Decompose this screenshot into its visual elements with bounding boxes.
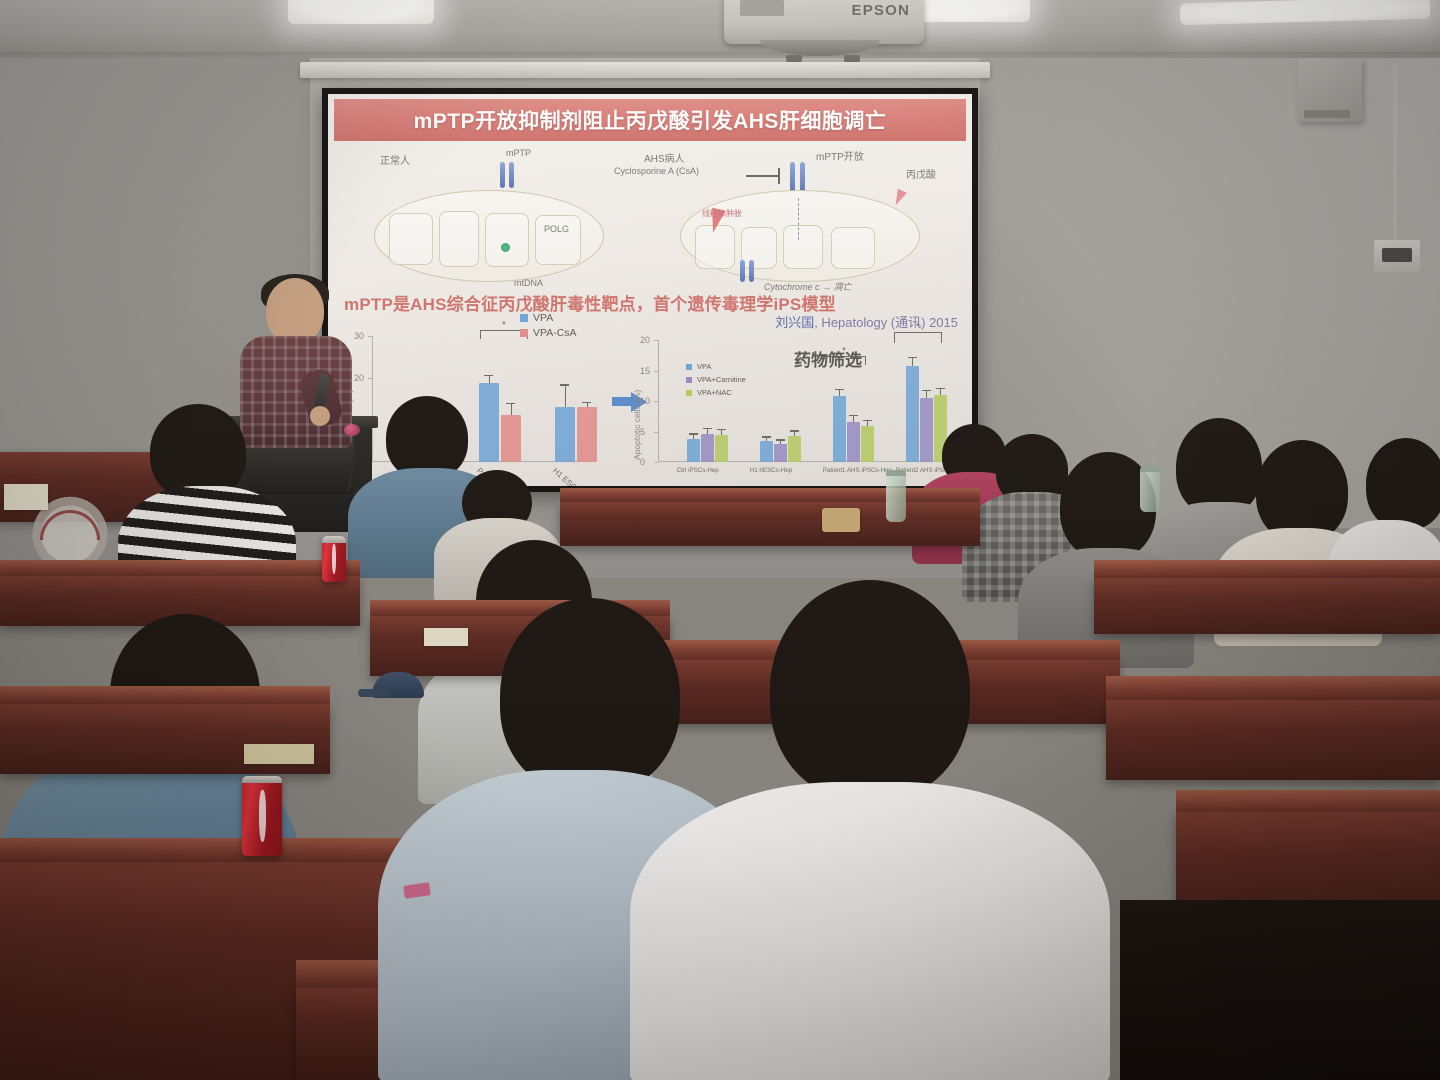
slide-title: mPTP开放抑制剂阻止丙戊酸引发AHS肝细胞调亡: [414, 105, 887, 135]
x-tick-label: H1 ESCs-Hep: [551, 466, 594, 486]
cytc-pore-icon: [740, 260, 745, 282]
presenter-hand: [310, 406, 330, 426]
error-bar: [693, 435, 694, 439]
error-cap: [717, 429, 726, 430]
error-bar: [587, 403, 588, 407]
bar: [920, 398, 933, 462]
error-cap: [835, 389, 844, 390]
error-cap: [936, 388, 945, 389]
lecture-hall-scene: EPSON mPTP开放抑制剂阻止丙戊酸引发AHS肝细胞调亡 正常人 mPTP: [0, 0, 1440, 1080]
crista: [741, 227, 777, 269]
y-tick-label: 15: [640, 366, 650, 376]
bar: [687, 439, 700, 462]
slide-title-bar: mPTP开放抑制剂阻止丙戊酸引发AHS肝细胞调亡: [334, 99, 966, 141]
slide-citation: 刘兴国, Hepatology (通讯) 2015: [775, 312, 958, 331]
error-bar: [489, 376, 490, 383]
legend-label: VPA+NAC: [697, 388, 732, 397]
error-bar: [940, 389, 941, 395]
diagram-label-swelling: 线粒体肿胀: [702, 208, 742, 219]
flow-arrow-stem: [612, 397, 632, 406]
projector-foot: [844, 55, 860, 62]
inhibition-cap: [778, 168, 780, 184]
error-bar: [511, 404, 512, 414]
diagram-label-mtdna: mtDNA: [514, 278, 543, 288]
projector-foot: [786, 55, 802, 62]
error-cap: [582, 402, 591, 403]
x-tick-label: Patient1 AHS iPSCs-Hep: [823, 467, 892, 474]
error-cap: [776, 439, 785, 440]
citation-author: 刘兴国: [775, 315, 814, 330]
diagram-label-mptp-open: mPTP开放: [816, 148, 864, 163]
coke-can: [322, 536, 346, 582]
projector: EPSON: [724, 0, 924, 44]
inhibition-line: [746, 175, 778, 177]
water-bottle: [1140, 466, 1160, 512]
y-tick-label: 5: [640, 427, 645, 437]
error-bar: [912, 358, 913, 366]
legend-swatch: [520, 329, 528, 337]
legend-item: VPA: [520, 312, 553, 324]
bar: [788, 436, 801, 462]
y-tick-label: 20: [640, 335, 650, 345]
diagram-label-normal: 正常人: [380, 152, 410, 167]
error-cap: [484, 375, 493, 376]
desk: [1106, 700, 1440, 780]
error-bar: [839, 390, 840, 396]
diagram-label-ahs-patient: AHS病人: [644, 150, 685, 165]
crista: [535, 215, 581, 265]
error-bar: [780, 441, 781, 445]
legend-swatch: [686, 390, 692, 396]
error-cap: [922, 390, 931, 391]
crista: [783, 225, 823, 269]
error-cap: [908, 357, 917, 358]
desk: [1094, 578, 1440, 634]
error-cap: [560, 384, 569, 385]
bar: [715, 435, 728, 462]
projector-brand-label: EPSON: [851, 2, 910, 19]
water-bottle: [886, 470, 906, 522]
audience-head: [500, 598, 680, 794]
wall-sensor: [1374, 240, 1420, 272]
projector-vent: [740, 0, 784, 16]
error-cap: [689, 433, 698, 434]
wall-sign: [4, 484, 48, 510]
desk: [560, 502, 980, 546]
diagram-label-mptp: mPTP: [506, 148, 531, 158]
bar: [555, 407, 575, 462]
cytc-pore-icon: [749, 260, 754, 282]
bar: [701, 434, 714, 462]
crista: [389, 213, 433, 265]
legend-swatch: [520, 314, 528, 322]
bar: [774, 444, 787, 462]
bar: [577, 407, 597, 462]
presenter-head: [266, 278, 324, 344]
error-cap: [790, 430, 799, 431]
audience-head: [1256, 440, 1348, 542]
legend-item: VPA: [686, 362, 711, 371]
error-cap: [703, 428, 712, 429]
bag-item: [822, 508, 860, 532]
bar: [861, 426, 874, 462]
legend-swatch: [686, 364, 692, 370]
diagram-label-csa: Cyclosporine A (CsA): [614, 166, 699, 176]
polg-dot-icon: [501, 243, 510, 252]
error-bar: [926, 391, 927, 398]
audience-head: [770, 580, 970, 800]
x-tick-label: H1 hESCs-Hep: [750, 467, 792, 474]
sensor-rod: [1393, 62, 1397, 244]
error-bar: [867, 421, 868, 426]
y-tick-label: 10: [640, 396, 650, 406]
crista: [439, 211, 479, 267]
bar: [501, 415, 521, 462]
y-tick-label: 0: [640, 457, 645, 467]
error-cap: [863, 420, 872, 421]
dashed-arrow: [798, 198, 799, 240]
mptp-pore-icon: [500, 162, 505, 188]
mptp-pore-icon: [509, 162, 514, 188]
notebook: [424, 628, 468, 646]
error-cap: [762, 436, 771, 437]
microphone-head-icon: [344, 424, 360, 436]
projection-screen-housing: [300, 62, 990, 78]
error-bar: [721, 430, 722, 435]
diagram-label-vpa: 丙戊酸: [906, 166, 936, 181]
bar: [833, 396, 846, 462]
legend-label: VPA: [533, 312, 553, 324]
legend-swatch: [686, 377, 692, 383]
audience-white-tshirt: [630, 782, 1110, 1080]
error-bar: [794, 432, 795, 436]
error-bar: [707, 429, 708, 434]
legend-label: VPA: [697, 362, 711, 371]
legend-item: VPA+NAC: [686, 388, 732, 397]
legend-label: VPA-CsA: [533, 327, 577, 339]
bar: [906, 366, 919, 462]
error-bar: [853, 416, 854, 421]
diagram-label-polg: POLG: [544, 224, 569, 234]
error-bar: [766, 438, 767, 442]
bar: [847, 422, 860, 462]
error-cap: [506, 403, 515, 404]
mitochondria-diagram: 正常人 mPTP POLG mtDNA AHS病人 Cyclosporine A…: [328, 146, 972, 296]
desk-shadow: [1120, 900, 1440, 1080]
error-cap: [849, 415, 858, 416]
drug-screening-title: 药物筛选: [794, 346, 862, 371]
legend-label: VPA+Carnitine: [697, 375, 746, 384]
notebook: [244, 744, 314, 764]
crista: [485, 213, 529, 267]
audience-head: [1366, 438, 1440, 530]
x-tick-label: Ctrl iPSCs-Hep: [677, 467, 719, 474]
legend-item: VPA-CsA: [520, 327, 577, 339]
crista: [831, 227, 875, 269]
bar: [760, 441, 773, 462]
ceiling-light: [288, 0, 434, 24]
bar: [479, 383, 499, 462]
error-bar: [565, 386, 566, 407]
wall-speaker: [1298, 58, 1362, 122]
legend-item: VPA+Carnitine: [686, 375, 746, 384]
coke-can: [242, 776, 282, 856]
citation-rest: , Hepatology (通讯) 2015: [814, 315, 958, 330]
mitochondrion-ahs: [680, 190, 920, 282]
significance-bracket: [894, 332, 942, 343]
presenter: [238, 278, 356, 448]
mitochondrion-normal: [374, 190, 604, 282]
vpa-arrow-icon: [891, 189, 907, 208]
